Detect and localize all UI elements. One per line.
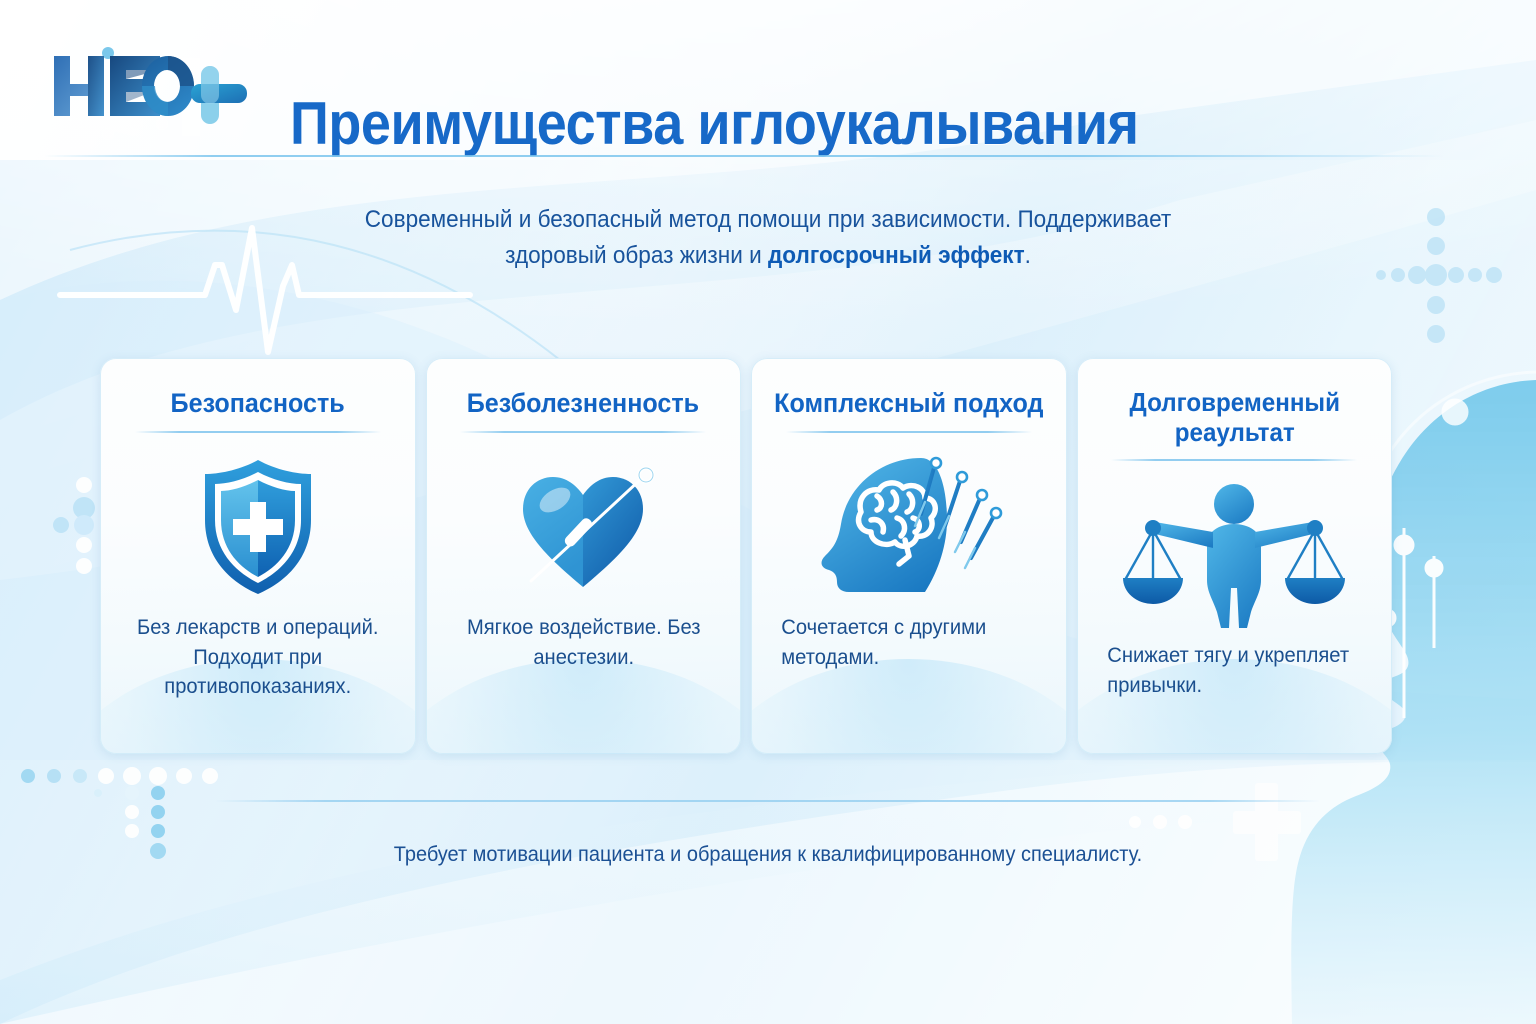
card-title-divider (135, 431, 381, 433)
dotted-cross-pattern-right (1376, 208, 1502, 343)
card-title-divider (460, 431, 706, 433)
brand-logo[interactable] (48, 40, 258, 130)
card-title: Безболезненность (458, 388, 709, 419)
header-bar: Преимущества иглоукалывания (0, 0, 1536, 158)
subtitle-line-2-pre: здоровый образ жизни и (505, 242, 768, 269)
header-divider (44, 155, 1444, 157)
subtitle: Современный и безопасный метод помощи пр… (298, 202, 1238, 275)
card-title-divider (786, 431, 1032, 433)
dot-grid-pattern-bottom (21, 767, 218, 859)
card-title-divider (1111, 459, 1357, 461)
benefit-card-safety[interactable]: Безопасность (100, 358, 416, 754)
shield-cross-icon (100, 447, 416, 607)
subtitle-line-2-post: . (1025, 242, 1031, 269)
footer-divider (215, 800, 1320, 802)
card-title: Комплексный подход (765, 388, 1053, 419)
card-description: Без лекарств и операций. Подходит при пр… (106, 613, 409, 702)
heart-needle-icon (426, 447, 742, 607)
card-description: Мягкое воздействие. Без анестезии. (432, 613, 735, 673)
medical-plus-icon (1233, 783, 1301, 861)
card-description: Сочетается с другими методами. (768, 613, 1049, 673)
page-title: Преимущества иглоукалывания (290, 92, 1262, 155)
infographic-canvas: Преимущества иглоукалывания Современный … (0, 0, 1536, 1024)
card-title: Долговременный реаультат (1088, 388, 1381, 447)
benefit-card-long-term-result[interactable]: Долговременный реаультат (1077, 358, 1393, 754)
benefit-cards-row: Безопасность (100, 358, 1392, 754)
card-description: Снижает тягу и укрепляет привычки. (1094, 641, 1375, 701)
card-title: Безопасность (161, 388, 354, 419)
footer-note: Требует мотивации пациента и обращения к… (293, 843, 1243, 867)
subtitle-line-1: Современный и безопасный метод помощи пр… (365, 206, 1172, 233)
head-brain-needles-icon (751, 447, 1067, 607)
benefit-card-painless[interactable]: Безболезненность (426, 358, 742, 754)
subtitle-highlight: долгосрочный эффект (768, 242, 1025, 269)
balance-scales-person-icon (1077, 475, 1393, 635)
benefit-card-complex-approach[interactable]: Комплексный подход (751, 358, 1067, 754)
